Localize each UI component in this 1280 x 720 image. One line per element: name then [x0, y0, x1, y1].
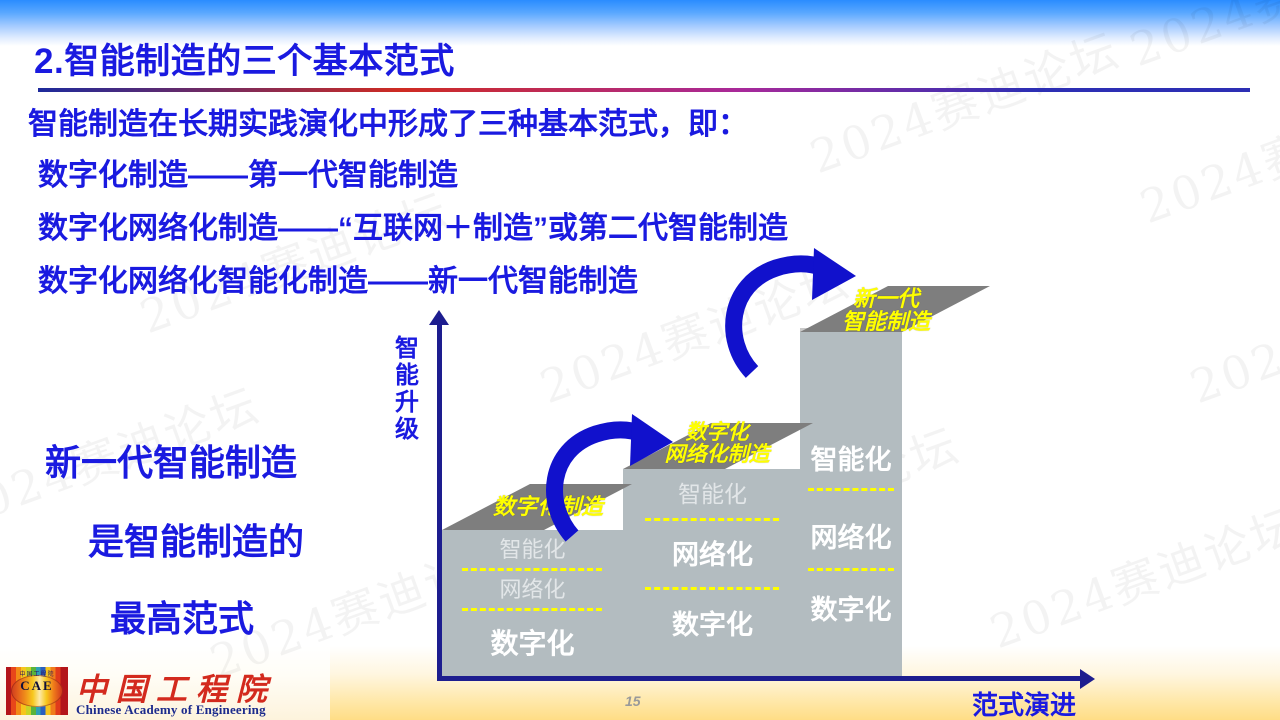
step-1-segment-label-network: 网络化: [442, 572, 623, 604]
step-1-divider: [462, 568, 602, 571]
statement-line-1: 新一代智能制造: [45, 434, 297, 486]
watermark-text: 2024赛迪论坛: [1180, 244, 1280, 417]
step-3-front-face: 智能化 网络化 数字化: [800, 332, 902, 676]
y-axis-label-char: 能: [390, 362, 424, 389]
body-line-para-1: 数字化制造——第一代智能制造: [38, 150, 458, 194]
cae-emblem-text: CAE: [6, 678, 68, 694]
cae-emblem-icon: 中国工程院 CAE: [6, 667, 68, 715]
page-number: 15: [625, 693, 641, 709]
step-3-segment-label-network: 网络化: [800, 516, 902, 555]
statement-line-3: 最高范式: [110, 590, 254, 642]
statement-line-2: 是智能制造的: [88, 513, 304, 565]
body-line-para-3: 数字化网络化智能化制造——新一代智能制造: [38, 256, 638, 300]
upgrade-arrow-2-icon: [716, 240, 866, 380]
paradigm-staircase-chart: 智 能 升 级 范式演进 智能化 网络化 数字化 新一代: [380, 310, 1100, 700]
x-axis-label: 范式演进: [972, 685, 1076, 720]
step-2-segment-label-digital: 数字化: [623, 603, 802, 642]
slide-root: 2024赛迪论坛 2024赛迪论坛 2024赛迪论坛 2024赛迪论坛 2024…: [0, 0, 1280, 720]
page-title: 2.智能制造的三个基本范式: [34, 33, 455, 84]
x-axis-arrowhead-icon: [1080, 669, 1095, 689]
step-3-segment-label-digital: 数字化: [800, 588, 902, 627]
y-axis-label-char: 级: [390, 416, 424, 443]
step-1-front-face: 智能化 网络化 数字化: [442, 530, 623, 676]
logo-name-en: Chinese Academy of Engineering: [76, 702, 266, 718]
step-3-divider: [808, 568, 894, 571]
title-underline-rule: [38, 88, 1250, 92]
y-axis-arrowhead-icon: [429, 310, 449, 325]
body-line-para-2: 数字化网络化制造——“互联网＋制造”或第二代智能制造: [38, 203, 788, 247]
y-axis-label-char: 升: [390, 389, 424, 416]
upgrade-arrow-1-icon: [538, 408, 683, 543]
cae-emblem-mini-text: 中国工程院: [6, 669, 68, 678]
step-1-segment-label-digital: 数字化: [442, 622, 623, 662]
step-2-divider: [645, 587, 779, 590]
x-axis-line: [437, 676, 1087, 681]
y-axis-label: 智 能 升 级: [390, 335, 424, 443]
y-axis-label-char: 智: [390, 335, 424, 362]
step-1-divider: [462, 608, 602, 611]
step-3-segment-label-intelligent: 智能化: [800, 438, 902, 477]
body-line-intro: 智能制造在长期实践演化中形成了三种基本范式，即：: [28, 99, 748, 143]
step-3-divider: [808, 488, 894, 491]
organization-logo: 中国工程院 CAE 中国工程院 Chinese Academy of Engin…: [6, 666, 326, 718]
